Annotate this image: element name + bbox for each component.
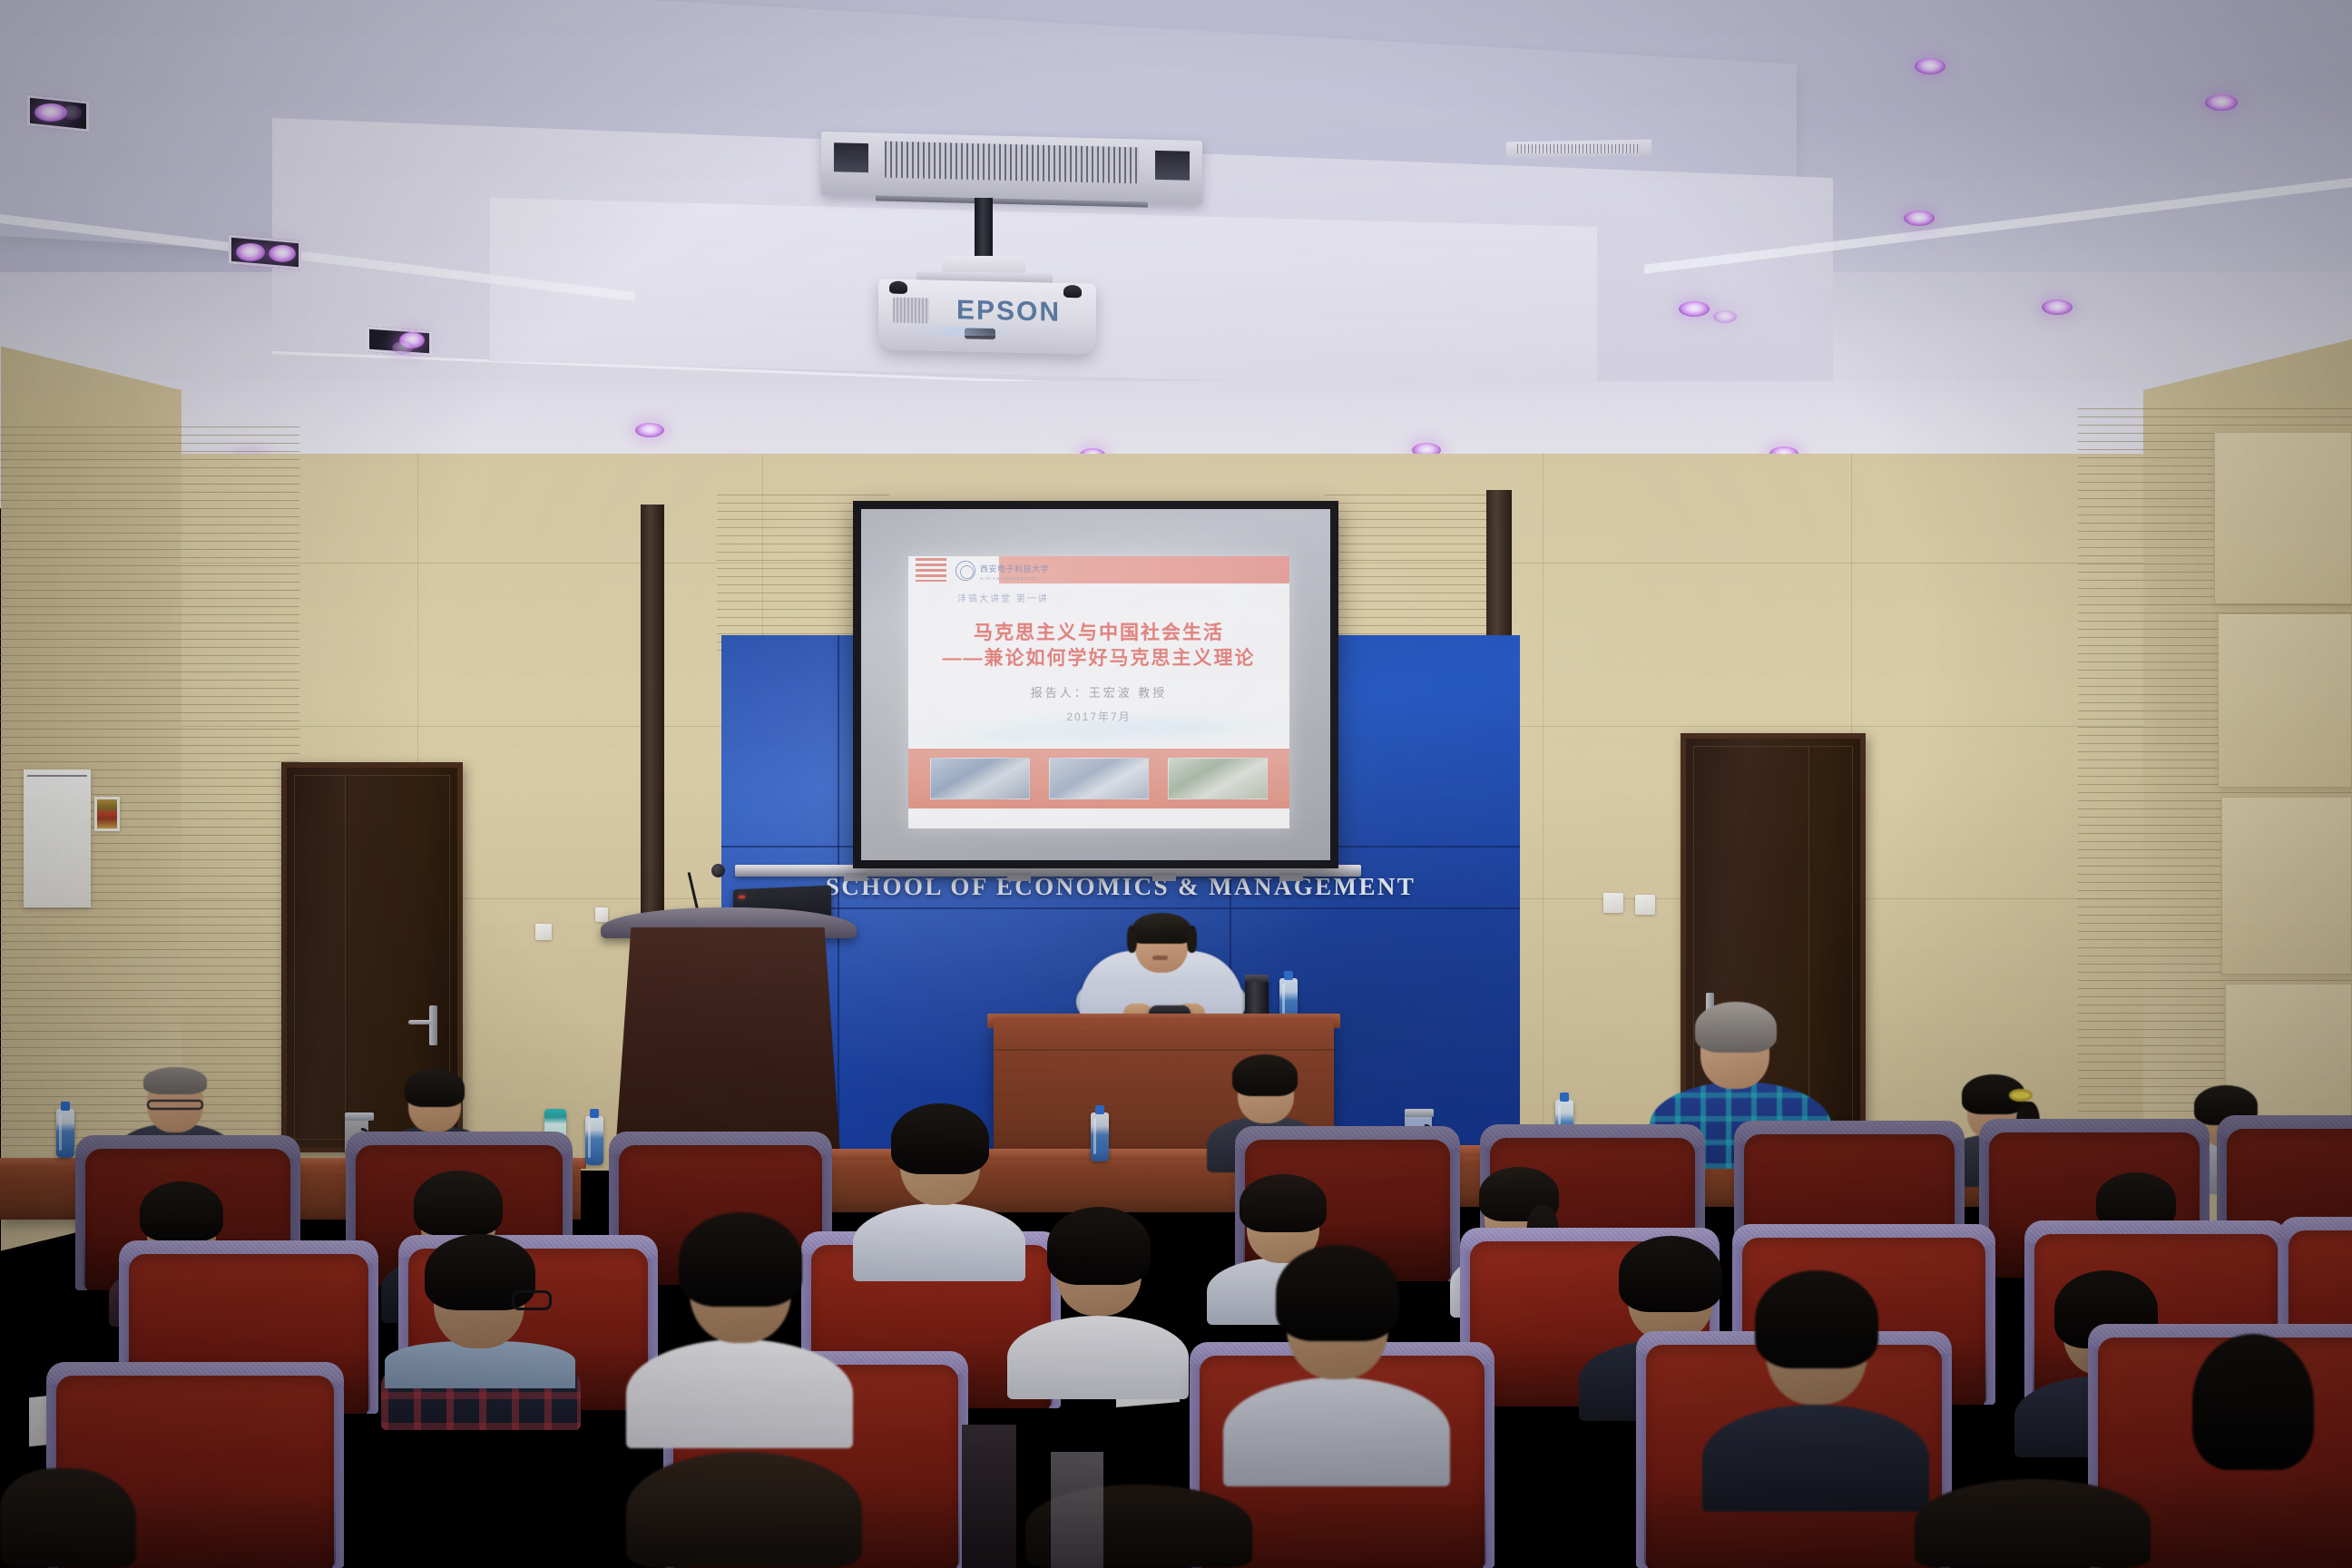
slide-photo-1 (930, 758, 1030, 799)
water-bottle (585, 1116, 603, 1165)
projector: EPSON (878, 279, 1096, 354)
acoustic-panel (2214, 432, 2352, 604)
slide-photo-3 (1168, 758, 1268, 799)
audience-person (1915, 1479, 2151, 1568)
speaker-hair (1132, 913, 1191, 944)
door-lever[interactable] (408, 1020, 432, 1024)
eyeglasses-icon (147, 1100, 203, 1110)
light-switch[interactable] (1635, 895, 1655, 915)
lecture-hall-photo: EPSON (0, 0, 2352, 1568)
slide-title-line2: ——兼论如何学好马克思主义理论 (908, 643, 1289, 671)
slide-title-line1: 马克思主义与中国社会生活 (908, 618, 1289, 645)
slide-kicker: 沣镐大讲堂 第一讲 (957, 591, 1049, 604)
floor-aisle (1051, 1452, 1103, 1568)
door-handle[interactable] (429, 1005, 437, 1045)
light-switch[interactable] (535, 924, 552, 940)
podium (615, 927, 840, 1154)
downlight (1713, 310, 1737, 323)
water-bottle (1091, 1112, 1109, 1161)
downlight (635, 423, 664, 437)
acoustic-panel (2218, 613, 2352, 788)
acoustic-panel (2221, 797, 2352, 975)
slide-photo-2 (1049, 758, 1149, 799)
water-bottle (56, 1109, 74, 1158)
wall-whiteboard (24, 769, 91, 907)
slide-presenter: 报告人：王宏波 教授 (908, 683, 1289, 701)
downlight (62, 105, 82, 120)
downlight (1679, 301, 1710, 317)
air-conditioner-cassette (821, 132, 1202, 204)
audience-person (1223, 1245, 1450, 1481)
audience-person (2149, 1328, 2352, 1568)
university-crest-icon (955, 561, 975, 581)
audience-person (626, 1212, 853, 1448)
downlight (392, 341, 414, 354)
downlight (236, 243, 265, 261)
eyeglasses-icon (512, 1290, 552, 1310)
wall-sign-english: SCHOOL OF ECONOMICS & MANAGEMENT (721, 873, 1520, 901)
laptop-power-led-icon (739, 896, 745, 898)
light-switch[interactable] (1603, 893, 1623, 913)
projector-mount-pole (975, 198, 993, 263)
audience-person (381, 1234, 581, 1425)
slide-date: 2017年7月 (908, 709, 1289, 724)
downlight (1915, 58, 1945, 74)
hair-clip-icon (2009, 1089, 2033, 1102)
logo-text-en: XIDIAN UNIVERSITY (980, 576, 1049, 581)
slide-hash-decoration (916, 558, 946, 582)
presentation-slide: 西安电子科技大学 XIDIAN UNIVERSITY 沣镐大讲堂 第一讲 马克思… (908, 556, 1289, 828)
audience-person (853, 1103, 1025, 1276)
downlight (2205, 94, 2238, 111)
podium-microphone-icon (711, 864, 725, 877)
projector-vent (893, 298, 929, 324)
audience-person (0, 1468, 136, 1568)
ceiling (0, 0, 2352, 508)
slide-photo-strip (908, 749, 1289, 808)
ceiling-vent-grill (1517, 144, 1639, 153)
wall-outlet[interactable] (595, 907, 608, 922)
audience-person (626, 1452, 862, 1568)
downlight (1904, 211, 1935, 226)
projection-screen: 西安电子科技大学 XIDIAN UNIVERSITY 沣镐大讲堂 第一讲 马克思… (853, 501, 1338, 868)
projector-brand-label: EPSON (956, 295, 1061, 328)
logo-text-cn: 西安电子科技大学 (980, 564, 1049, 573)
wall-notice-frame (94, 797, 120, 831)
university-logo: 西安电子科技大学 XIDIAN UNIVERSITY (955, 560, 1049, 581)
downlight (2042, 299, 2073, 315)
downlight (269, 245, 296, 262)
audience-person (1702, 1270, 1929, 1506)
audience-person (1007, 1207, 1189, 1397)
floor-aisle (962, 1425, 1016, 1568)
